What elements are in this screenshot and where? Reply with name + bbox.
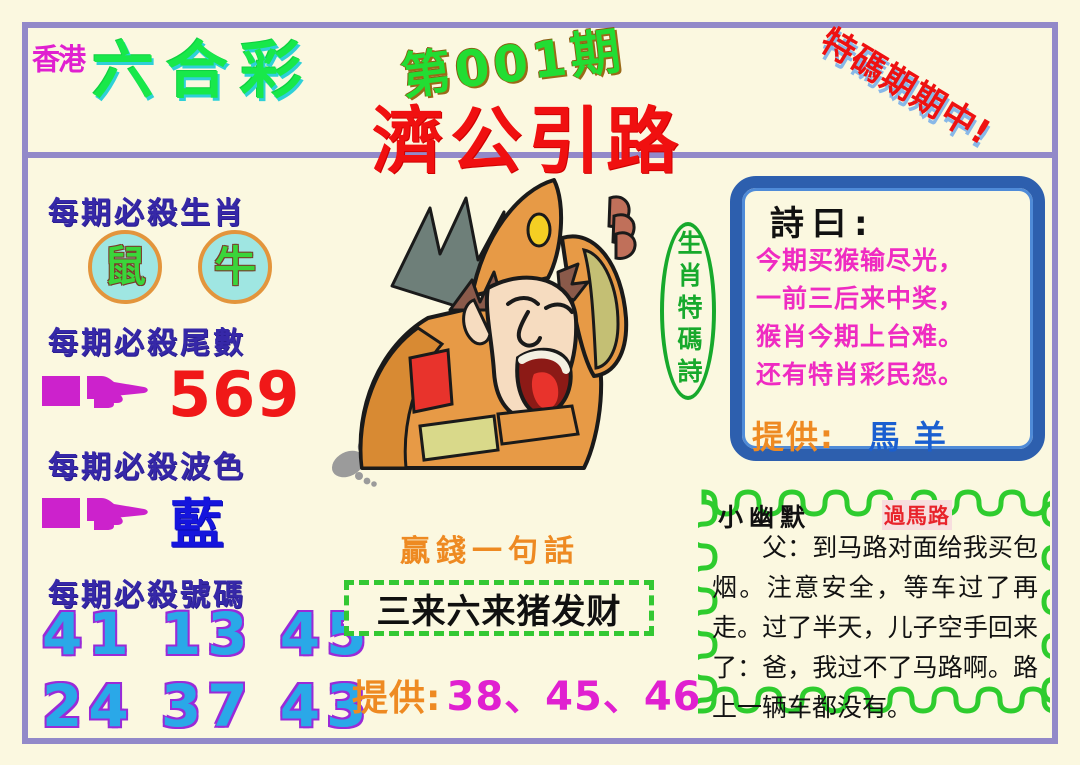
- poem-line-4: 还有特肖彩民怨。: [756, 356, 1036, 394]
- humor-subtitle: 過馬路: [882, 500, 952, 530]
- center-supply-label: 提供:: [352, 678, 441, 719]
- tail-section-label: 每期必殺尾數: [48, 318, 246, 362]
- kill-numbers-row-1: 41 13 45: [42, 600, 373, 668]
- poem-supply-line: 提供: 馬羊: [752, 412, 960, 458]
- poem-line-2: 一前三后来中奖，: [756, 280, 1036, 318]
- poem-title: 詩曰:: [770, 196, 876, 245]
- zodiac-pick-1-label: 鼠: [104, 246, 146, 288]
- badge-char-5: 詩: [668, 356, 712, 388]
- zodiac-pick-2-label: 牛: [214, 246, 256, 288]
- poem-supply-label: 提供:: [752, 418, 835, 456]
- badge-char-4: 碼: [668, 324, 712, 356]
- zodiac-pick-2: 牛: [198, 230, 272, 304]
- zodiac-poem-badge-label: 生 肖 特 碼 詩: [668, 228, 712, 388]
- jigong-monk-illustration: [322, 168, 692, 498]
- poem-line-3: 猴肖今期上台难。: [756, 318, 1036, 356]
- tail-value: 569: [168, 358, 300, 431]
- badge-char-1: 生: [668, 228, 712, 260]
- poem-supply-value: 馬羊: [868, 418, 960, 456]
- wave-value: 藍: [170, 480, 224, 559]
- poem-lines: 今期买猴输尽光， 一前三后来中奖， 猴肖今期上台难。 还有特肖彩民怨。: [756, 242, 1036, 394]
- zodiac-pick-1: 鼠: [88, 230, 162, 304]
- lottery-poster: 香港 六合彩 第001期 濟公引路 特碼期期中! 每期必殺生肖 鼠 牛 每期必殺…: [0, 0, 1080, 765]
- center-supply-numbers: 38、45、46: [447, 674, 702, 720]
- badge-char-2: 肖: [668, 260, 712, 292]
- lucky-phrase-box: 三来六来猪发财: [344, 580, 654, 636]
- humor-body-text: 父：到马路对面给我买包烟。注意安全，等车过了再走。过了半天，儿子空手回来了：爸，…: [712, 528, 1038, 728]
- lottery-name: 六合彩: [92, 20, 314, 110]
- kill-numbers-row-2: 24 37 43: [42, 672, 373, 740]
- badge-char-3: 特: [668, 292, 712, 324]
- region-label: 香港: [32, 37, 84, 79]
- pointing-hand-icon: [42, 370, 152, 410]
- center-supply-line: 提供: 38、45、46: [352, 664, 702, 722]
- poem-line-1: 今期买猴输尽光，: [756, 242, 1036, 280]
- lucky-phrase-text: 三来六来猪发财: [377, 584, 622, 633]
- zodiac-section-label: 每期必殺生肖: [48, 188, 246, 232]
- pointing-hand-icon: [42, 492, 152, 532]
- win-phrase-label: 贏錢一句話: [400, 526, 580, 570]
